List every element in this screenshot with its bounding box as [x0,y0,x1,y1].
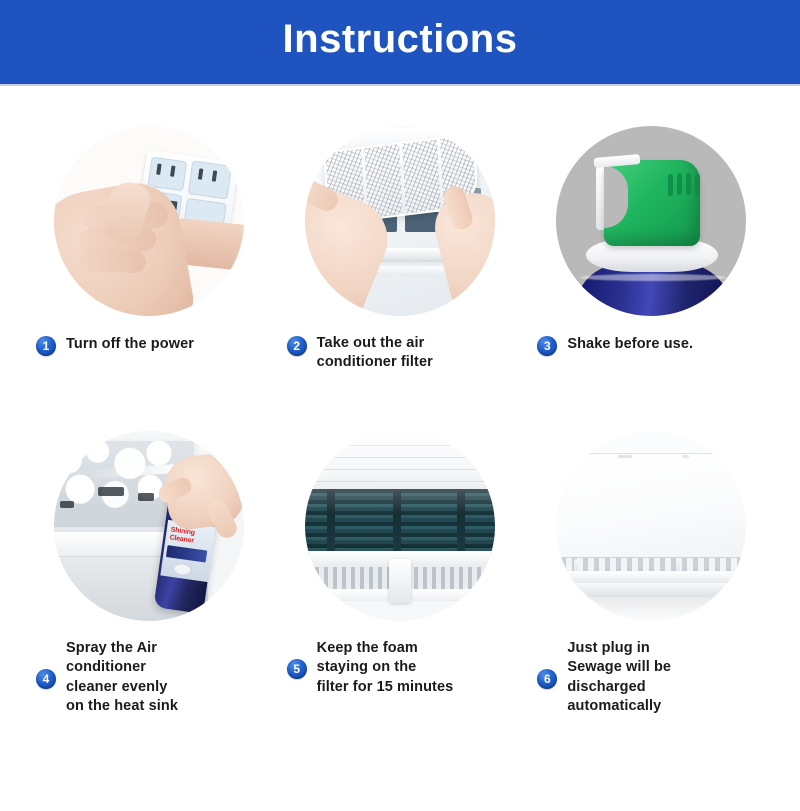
instruction-step-5: 5 Keep the foam staying on the filter fo… [275,431,526,736]
green-spray-nozzle-on-can-image [556,126,746,316]
socket-graphic [188,160,232,199]
hands-removing-air-conditioner-filter-image [305,126,495,316]
display-indicator-graphic [618,455,632,458]
page-title: Instructions [283,19,518,65]
step-4-caption: 4 Spray the Air conditioner cleaner even… [24,621,275,716]
step-6-number-badge: 6 [537,669,557,689]
step-3-caption-text: Shake before use. [567,335,693,354]
step-4-photo-wrap: Shining Cleaner [54,431,244,621]
display-indicator-graphic [682,455,689,458]
cap-vent-graphic [668,174,673,196]
step-5-caption: 5 Keep the foam staying on the filter fo… [275,621,526,697]
step-2-photo-wrap [305,126,495,316]
shell-seam-graphic [305,457,495,458]
heat-sink-gap-graphic [98,487,124,496]
cleaner-can-label: Shining Cleaner [161,520,216,582]
step-1-number-badge: 1 [36,336,56,356]
step-3-number-badge: 3 [537,336,557,356]
panel-shadow-graphic [556,597,746,621]
step-6-caption: 6 Just plug in Sewage will be discharged… [525,621,776,716]
air-conditioner-louver-graphic [556,583,746,597]
can-highlight-graphic [580,274,726,281]
step-6-photo-wrap [556,431,746,621]
heat-exchanger-fins-graphic [305,489,495,555]
step-2-caption-text: Take out the air conditioner filter [317,334,433,373]
heat-sink-gap-graphic [138,493,154,501]
step-1-photo-wrap [54,126,244,316]
air-conditioner-shell-graphic [305,431,495,493]
step-4-caption-text: Spray the Air conditioner cleaner evenly… [66,639,178,716]
finger-graphic [76,249,147,273]
instruction-step-3: 3 Shake before use. [525,126,776,431]
instruction-step-6: 6 Just plug in Sewage will be discharged… [525,431,776,736]
step-2-number-badge: 2 [287,336,307,356]
instruction-step-1: 1 Turn off the power [24,126,275,431]
step-5-photo-wrap [305,431,495,621]
spraying-cleaner-on-heat-sink-image: Shining Cleaner [54,431,244,621]
instruction-steps-grid: 1 Turn off the power [0,86,800,811]
instruction-step-2: 2 Take out the air conditioner filter [275,126,526,431]
step-1-caption-text: Turn off the power [66,335,194,354]
cap-vent-graphic [677,173,682,195]
step-1-caption: 1 Turn off the power [24,316,275,356]
step-4-number-badge: 4 [36,669,56,689]
step-6-caption-text: Just plug in Sewage will be discharged a… [567,639,671,716]
step-5-caption-text: Keep the foam staying on the filter for … [317,639,454,697]
white-air-conditioner-front-panel-image [556,431,746,621]
step-5-number-badge: 5 [287,659,307,679]
air-conditioner-louver-graphic [556,571,746,583]
shell-seam-graphic [305,445,495,446]
filter-clip-graphic [389,559,411,603]
page-header: Instructions [0,0,800,84]
cap-vent-graphic [695,174,700,196]
cover-seam-graphic [556,453,746,454]
can-label-band [166,545,207,562]
air-conditioner-heat-exchanger-fins-image [305,431,495,621]
filter-rib-graphic [399,144,406,214]
cap-vent-graphic [686,173,691,195]
shell-seam-graphic [305,469,495,470]
shell-seam-graphic [305,481,495,482]
heat-sink-gap-graphic [60,501,74,508]
step-3-caption: 3 Shake before use. [525,316,776,356]
step-2-caption: 2 Take out the air conditioner filter [275,316,526,373]
step-3-photo-wrap [556,126,746,316]
air-conditioner-front-cover-graphic [556,451,746,557]
can-label-seal [173,562,192,576]
instruction-step-4: Shining Cleaner 4 Spray the Air conditio… [24,431,275,736]
hand-unplugging-power-strip-image [54,126,244,316]
fin-highlight-graphic [305,489,495,555]
